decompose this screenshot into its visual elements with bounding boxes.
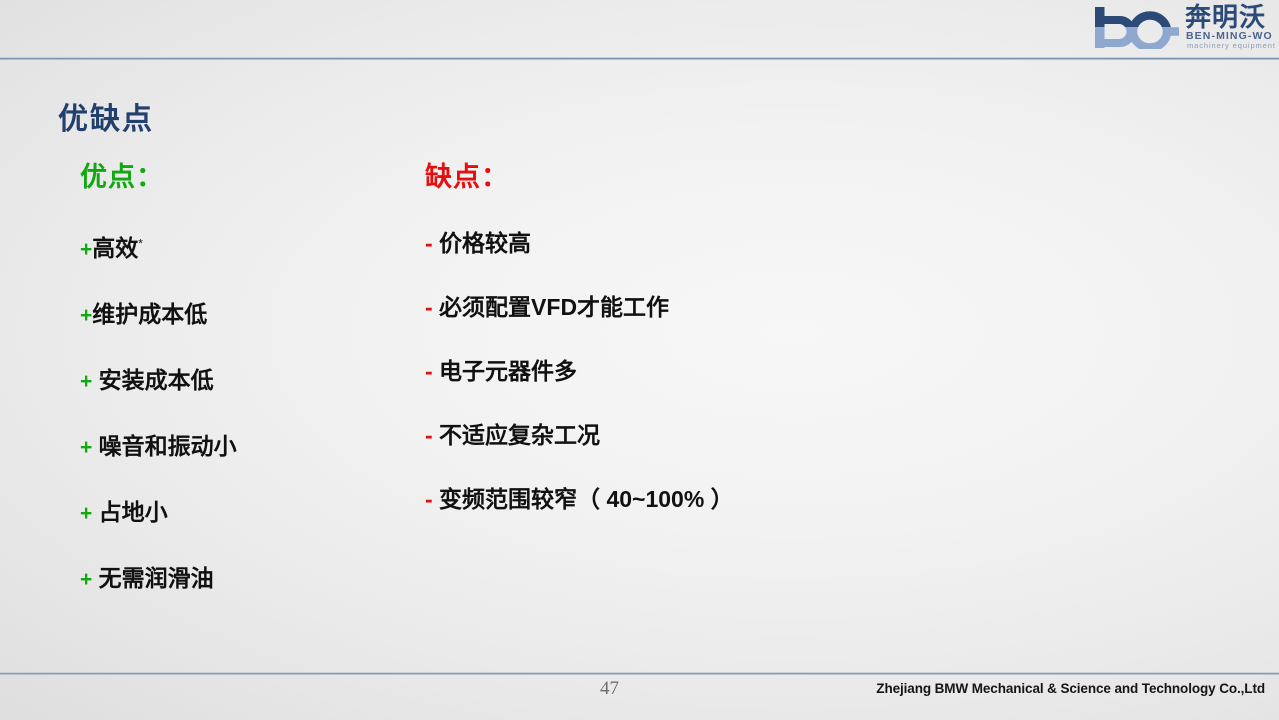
list-item-label: 维护成本低 [92,301,207,327]
plus-marker-icon: + [80,301,92,331]
list-item-label: 必须配置VFD才能工作 [433,294,669,320]
cons-column: 缺点： - 价格较高- 必须配置VFD才能工作- 电子元器件多- 不适应复杂工况… [425,160,905,514]
bo-monogram-icon [1093,6,1181,49]
list-item: + 无需润滑油 [80,563,420,595]
list-item-label: 安装成本低 [92,367,213,393]
minus-marker-icon: - [425,292,433,322]
list-item-label: 占地小 [92,499,167,525]
list-item-label: 无需润滑油 [92,565,213,591]
page-title: 优缺点 [58,100,154,140]
cons-heading: 缺点： [425,160,905,194]
header-divider [0,57,1279,60]
pros-list: +高效*+维护成本低+ 安装成本低+ 噪音和振动小+ 占地小+ 无需润滑油 [80,228,420,595]
cons-list: - 价格较高- 必须配置VFD才能工作- 电子元器件多- 不适应复杂工况- 变频… [425,228,905,514]
list-item: +维护成本低 [80,299,420,331]
list-item: - 电子元器件多 [425,356,905,386]
list-item-label: 噪音和振动小 [92,433,236,459]
footer-company-name: Zhejiang BMW Mechanical & Science and Te… [876,680,1265,698]
plus-marker-icon: + [80,565,92,595]
list-item: +高效* [80,228,420,265]
slide-canvas: 奔明沃 BEN-MING-WO machinery equipment 优缺点 … [0,0,1279,720]
plus-marker-icon: + [80,235,92,265]
minus-marker-icon: - [425,420,433,450]
list-item-label: 电子元器件多 [433,358,577,384]
footnote-marker: * [138,236,143,250]
list-item: - 不适应复杂工况 [425,420,905,450]
pros-column: 优点： +高效*+维护成本低+ 安装成本低+ 噪音和振动小+ 占地小+ 无需润滑… [80,160,420,595]
list-item-label: 高效* [92,235,143,261]
plus-marker-icon: + [80,499,92,529]
list-item: - 价格较高 [425,228,905,258]
minus-marker-icon: - [425,356,433,386]
footer-divider [0,672,1279,675]
list-item-label: 价格较高 [433,230,531,256]
list-item: - 必须配置VFD才能工作 [425,292,905,322]
minus-marker-icon: - [425,484,433,514]
minus-marker-icon: - [425,228,433,258]
list-item-label: 变频范围较窄（ 40~100% ） [433,486,734,512]
slide-header: 奔明沃 BEN-MING-WO machinery equipment [0,0,1279,58]
list-item: + 噪音和振动小 [80,431,420,463]
plus-marker-icon: + [80,433,92,463]
list-item-label: 不适应复杂工况 [433,422,600,448]
logo-tagline: machinery equipment [1187,42,1276,50]
plus-marker-icon: + [80,367,92,397]
list-item: + 安装成本低 [80,365,420,397]
logo-chinese-name: 奔明沃 [1185,4,1266,30]
list-item: - 变频范围较窄（ 40~100% ） [425,484,905,514]
company-logo: 奔明沃 BEN-MING-WO machinery equipment [1089,3,1271,53]
pros-heading: 优点： [80,160,420,194]
list-item: + 占地小 [80,497,420,529]
